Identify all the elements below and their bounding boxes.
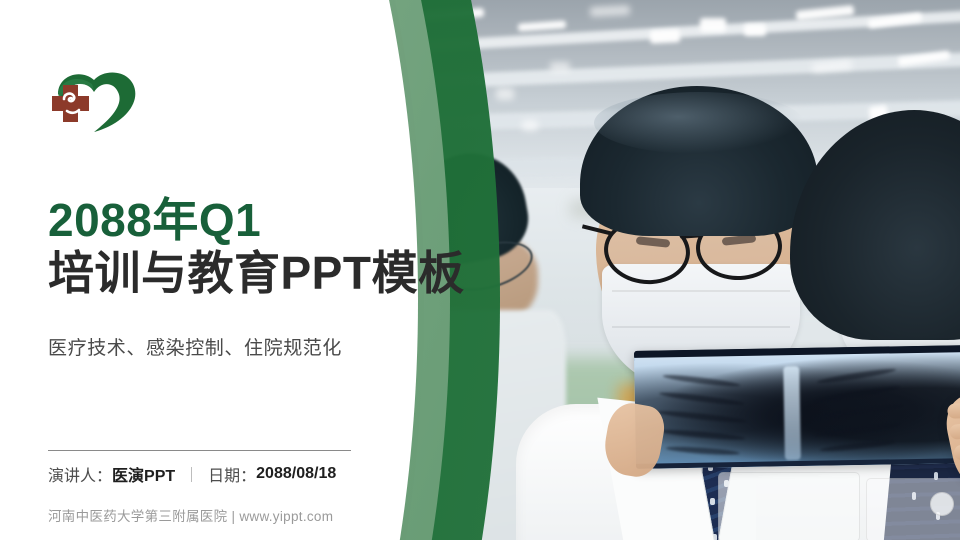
- labcoat-button: [930, 492, 954, 516]
- ceiling-lamp: [700, 18, 726, 32]
- date-label: 日期：: [208, 462, 256, 486]
- date-value: 2088/08/18: [256, 465, 336, 483]
- divider-line: [48, 450, 351, 451]
- ceiling-lamp: [496, 88, 514, 100]
- organization-name: 河南中医药大学第三附属医院: [48, 509, 227, 524]
- footer-organization: 河南中医药大学第三附属医院 | www.yippt.com: [48, 505, 333, 525]
- doctor-female-hair: [790, 110, 960, 340]
- ceiling-beam: [400, 9, 960, 55]
- speaker-value: 医演PPT: [112, 462, 175, 486]
- subtitle: 医疗技术、感染控制、住院规范化: [48, 333, 342, 360]
- presenter-meta: 演讲人： 医演PPT 日期： 2088/08/18: [48, 462, 336, 486]
- ceiling-lamp: [650, 29, 681, 44]
- title-panel: 2088年Q1 培训与教育PPT模板 医疗技术、感染控制、住院规范化 演讲人： …: [0, 0, 430, 540]
- heart-cross-icon: [44, 66, 152, 136]
- doctor-male-hair: [580, 86, 818, 236]
- footer-divider: |: [231, 509, 235, 524]
- chest-xray-film: [634, 345, 960, 469]
- speaker-label: 演讲人：: [48, 462, 112, 486]
- website-url: www.yippt.com: [239, 509, 333, 524]
- title-line-2: 培训与教育PPT模板: [48, 248, 428, 300]
- page-title: 2088年Q1 培训与教育PPT模板: [48, 196, 428, 299]
- ceiling-lamp: [518, 20, 566, 31]
- presentation-slide: 2088年Q1 培训与教育PPT模板 医疗技术、感染控制、住院规范化 演讲人： …: [0, 0, 960, 540]
- ceiling-lamp: [550, 62, 570, 72]
- xray-image: [634, 351, 960, 469]
- medical-cross-icon: [52, 85, 89, 122]
- meta-separator: [191, 467, 192, 482]
- ceiling-lamp: [590, 5, 630, 17]
- labcoat-pocket: [718, 472, 860, 540]
- title-line-1: 2088年Q1: [48, 196, 428, 246]
- xray-spine: [783, 366, 801, 460]
- ceiling-lamp: [522, 120, 538, 131]
- hospital-logo: [44, 66, 152, 136]
- ceiling-lamp: [744, 24, 766, 36]
